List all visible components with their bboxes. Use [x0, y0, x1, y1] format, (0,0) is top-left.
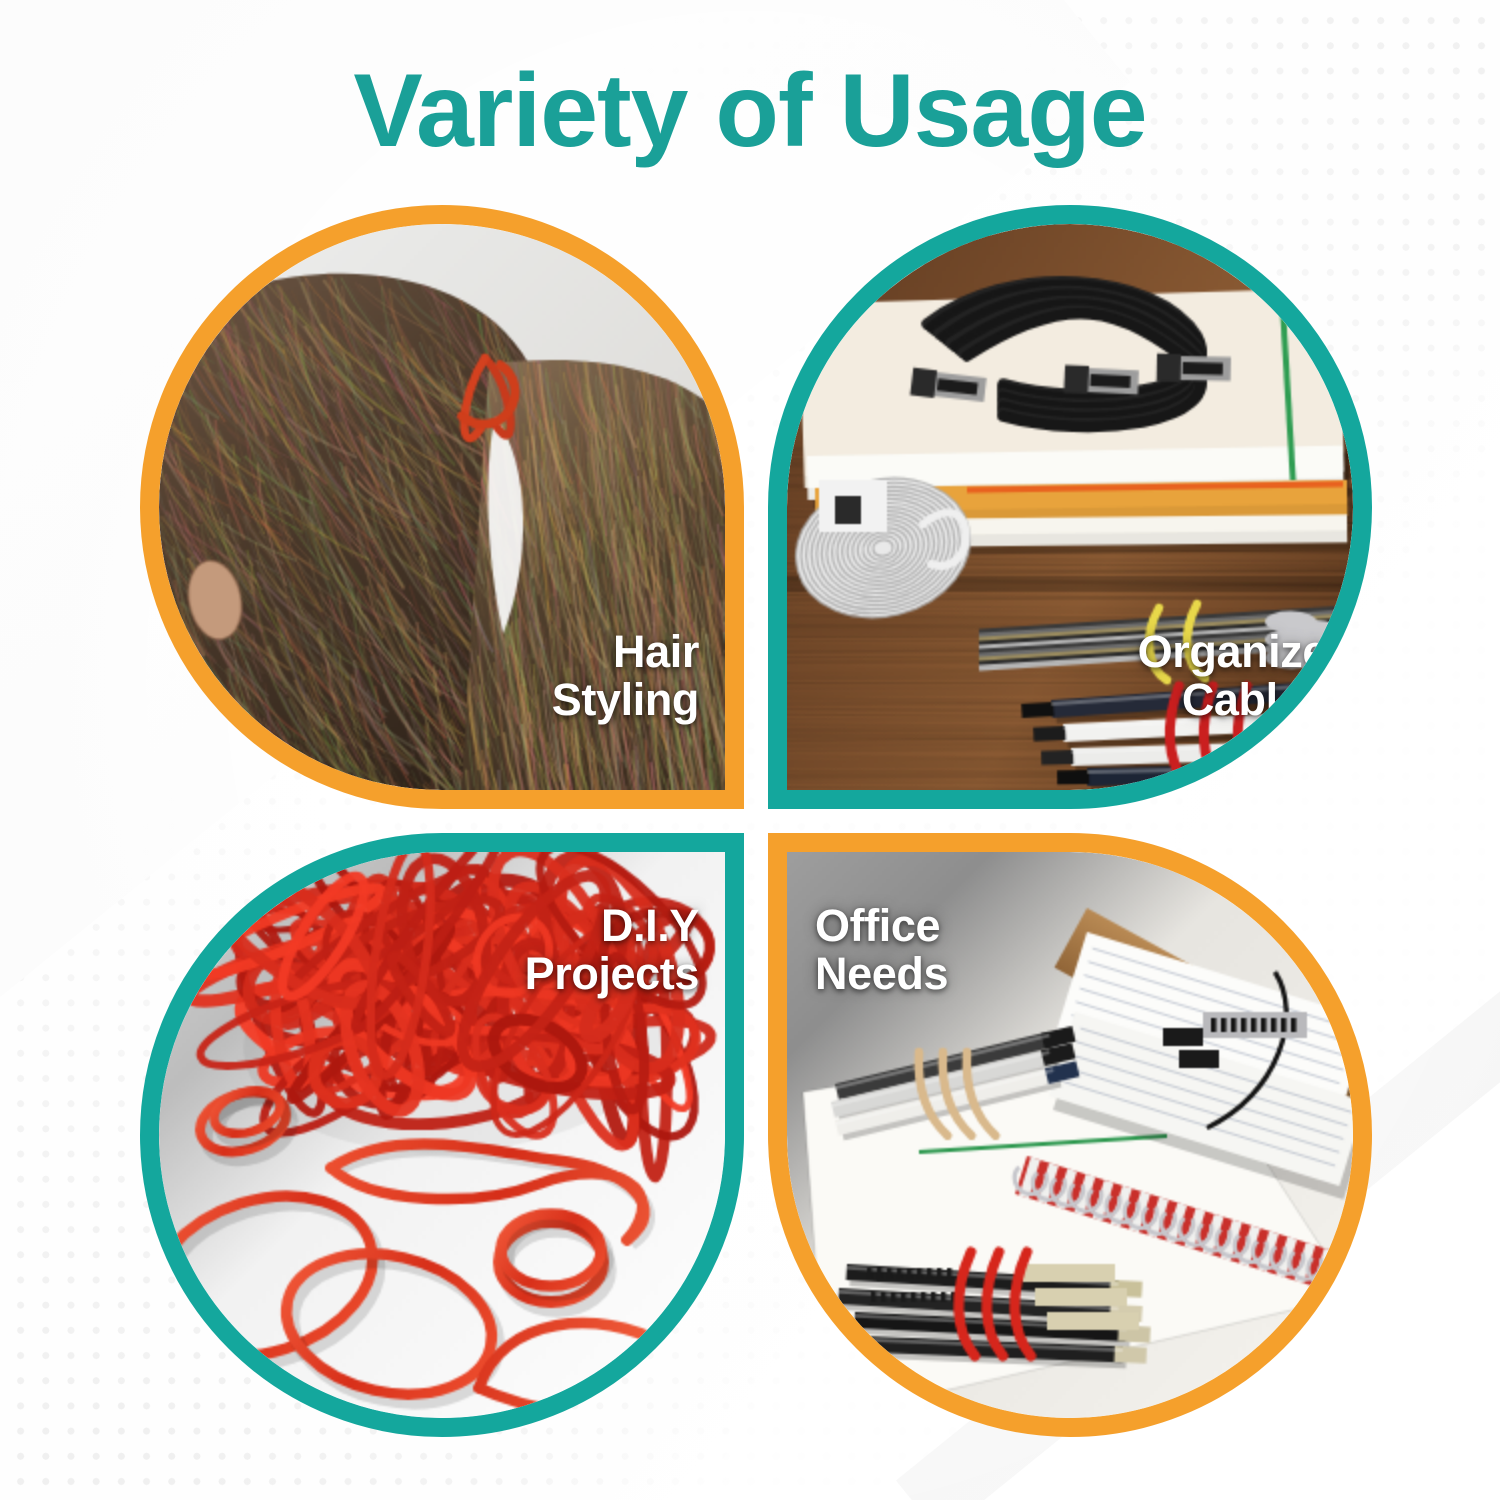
- caption-line-1: D.I.Y: [525, 902, 699, 950]
- caption-line-2: Cables: [1138, 676, 1327, 724]
- caption-line-1: Organize: [1138, 628, 1327, 676]
- petal-office-needs: Office Needs: [768, 833, 1372, 1437]
- petal-diy-projects: D.I.Y Projects: [140, 833, 744, 1437]
- petal-grid: Hair Styling Organize Cables: [140, 205, 1372, 1437]
- page-title: Variety of Usage: [0, 56, 1500, 166]
- caption-line-2: Needs: [815, 950, 948, 998]
- petal-hair-styling: Hair Styling: [140, 205, 744, 809]
- caption-line-2: Styling: [552, 676, 699, 724]
- caption-line-2: Projects: [525, 950, 699, 998]
- caption-line-1: Office: [815, 902, 948, 950]
- petal-inner: Office Needs: [787, 852, 1353, 1418]
- caption-organize-cables: Organize Cables: [1138, 628, 1327, 724]
- petal-organize-cables: Organize Cables: [768, 205, 1372, 809]
- caption-hair-styling: Hair Styling: [552, 628, 699, 724]
- caption-diy-projects: D.I.Y Projects: [525, 902, 699, 998]
- petal-inner: D.I.Y Projects: [159, 852, 725, 1418]
- petal-inner: Hair Styling: [159, 224, 725, 790]
- caption-office-needs: Office Needs: [815, 902, 948, 998]
- infographic-page: Variety of Usage Hair Styling Org: [0, 0, 1500, 1500]
- caption-line-1: Hair: [552, 628, 699, 676]
- petal-inner: Organize Cables: [787, 224, 1353, 790]
